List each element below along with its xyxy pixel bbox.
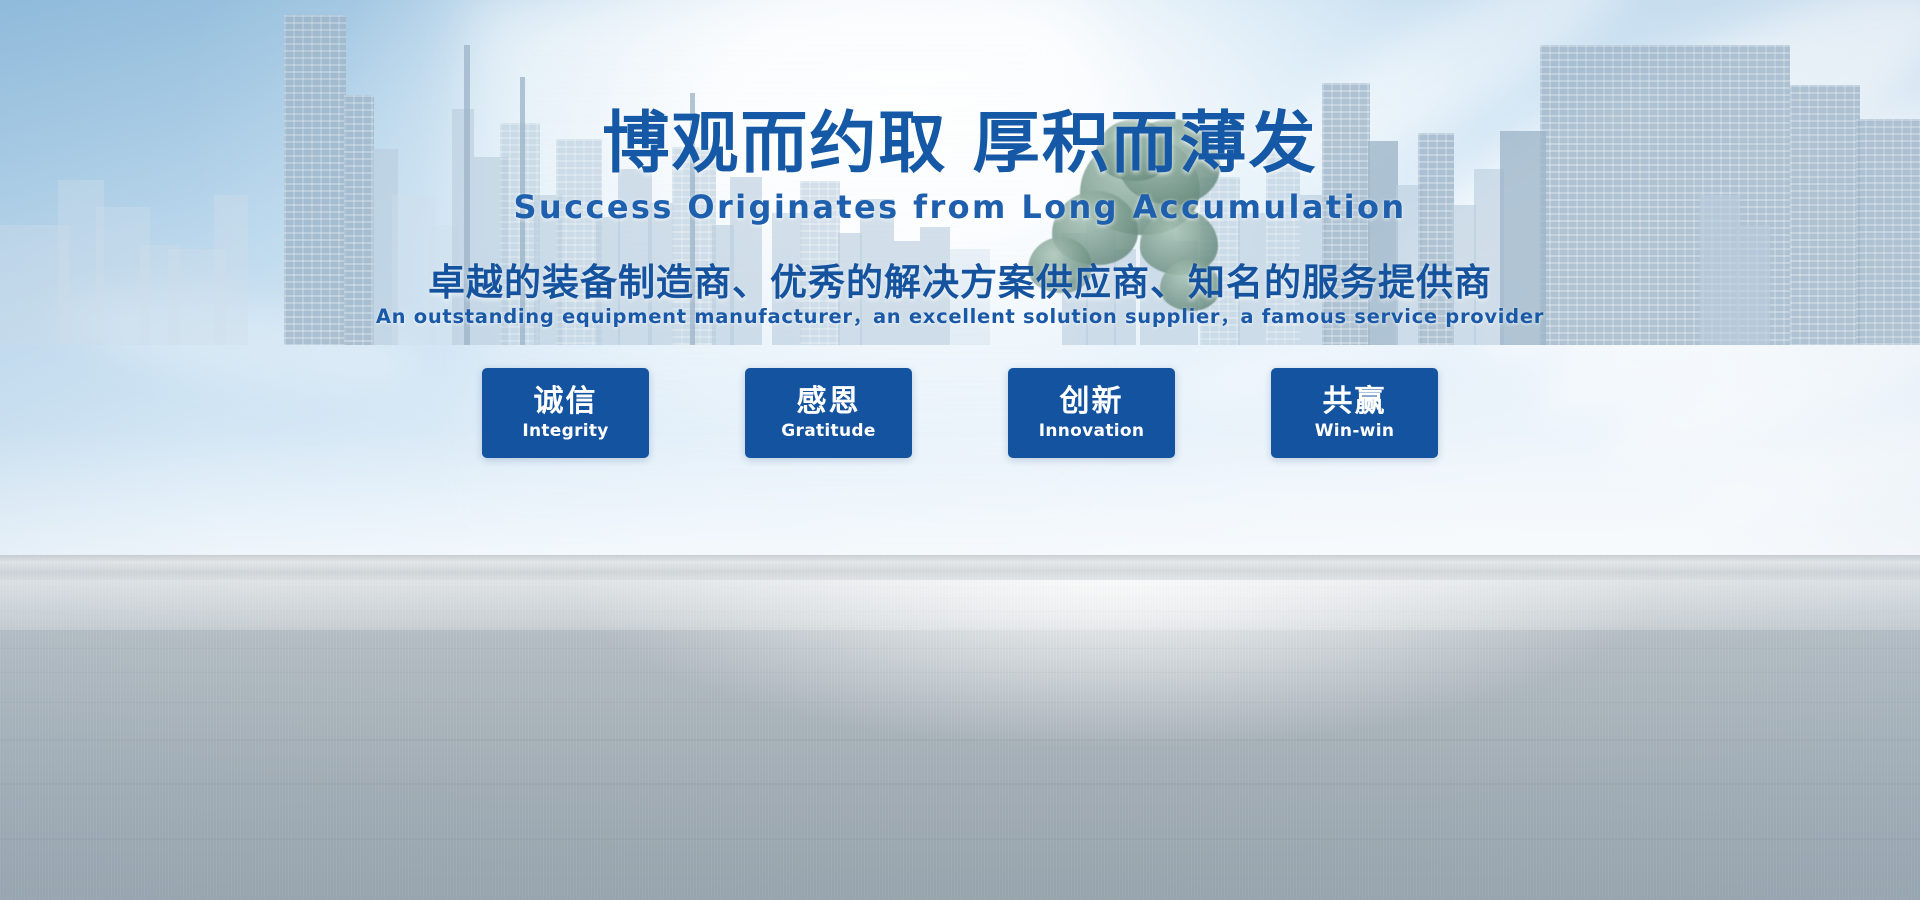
value-card-label-en: Innovation (1039, 423, 1145, 440)
value-card-label-en: Integrity (522, 423, 608, 440)
value-card-integrity[interactable]: 诚信 Integrity (482, 368, 649, 458)
value-card-label-cn: 诚信 (534, 386, 598, 418)
value-card-gratitude[interactable]: 感恩 Gratitude (745, 368, 912, 458)
value-card-label-en: Win-win (1315, 423, 1394, 440)
hero-banner: 博观而约取 厚积而薄发 Success Originates from Long… (0, 0, 1920, 900)
value-card-label-en: Gratitude (781, 423, 875, 440)
value-card-innovation[interactable]: 创新 Innovation (1008, 368, 1175, 458)
value-card-label-cn: 创新 (1060, 386, 1124, 418)
headline-english: Success Originates from Long Accumulatio… (0, 188, 1920, 226)
value-card-label-cn: 共赢 (1323, 386, 1387, 418)
subheadline-english: An outstanding equipment manufacturer，an… (0, 300, 1920, 329)
banner-content: 博观而约取 厚积而薄发 Success Originates from Long… (0, 0, 1920, 900)
subheadline-chinese: 卓越的装备制造商、优秀的解决方案供应商、知名的服务提供商 (0, 252, 1920, 306)
value-card-win-win[interactable]: 共赢 Win-win (1271, 368, 1438, 458)
value-card-label-cn: 感恩 (797, 386, 861, 418)
value-card-group: 诚信 Integrity 感恩 Gratitude 创新 Innovation … (0, 368, 1920, 458)
headline-chinese: 博观而约取 厚积而薄发 (0, 108, 1920, 178)
